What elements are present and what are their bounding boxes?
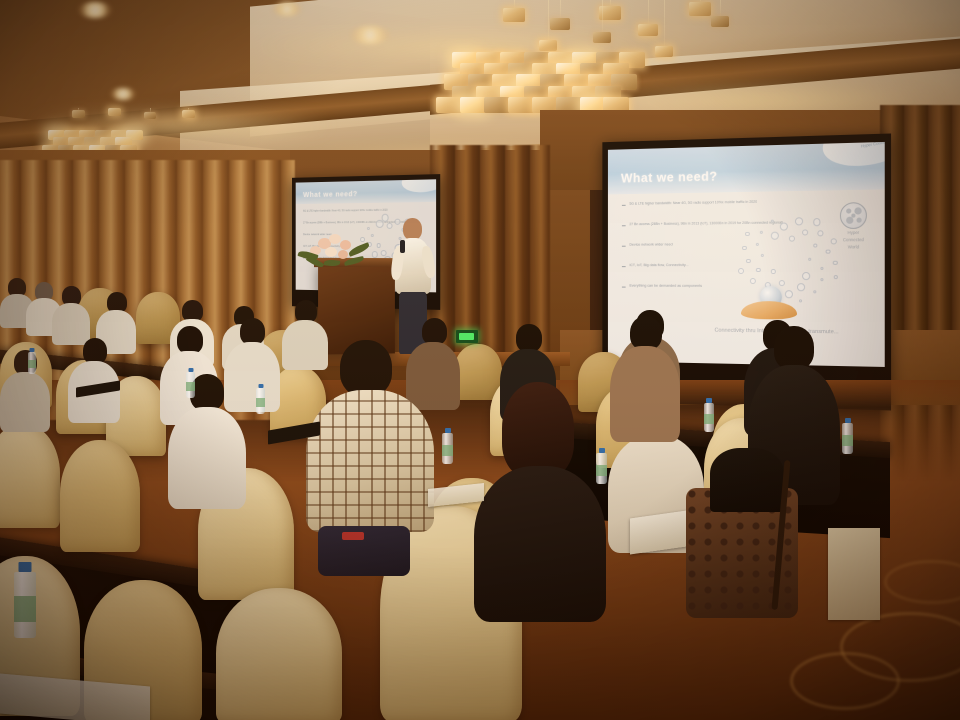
audience-member-long-hair [474, 382, 606, 616]
iot-node-icon [813, 290, 816, 293]
slide-bullet-text: Device network wider need [629, 242, 672, 246]
audience-member-checkered-shirt [306, 340, 434, 572]
chandelier-cube [689, 2, 711, 16]
slide-corner-badge: Hyper Connected [861, 142, 885, 149]
chandelier-cube [711, 16, 729, 27]
chandelier-cube [460, 97, 486, 113]
iot-node-icon [742, 246, 747, 251]
bullet-dash-icon [622, 246, 626, 247]
chandelier-cube [655, 46, 673, 57]
iot-node-icon [759, 230, 762, 233]
floral-arrangement [298, 232, 372, 270]
chandelier-wire [664, 0, 665, 46]
iot-node-icon [797, 283, 805, 291]
iot-node-icon [813, 243, 818, 248]
logo-line-3: World [831, 245, 877, 250]
iot-node-icon [795, 218, 803, 226]
iot-node-icon [802, 272, 810, 280]
iot-node-icon [802, 229, 808, 235]
iot-node-icon [771, 232, 779, 240]
audience-member [610, 316, 680, 436]
chandelier-cube [72, 110, 85, 118]
water-bottle [442, 428, 453, 464]
slide-title: What we need? [303, 191, 358, 199]
hyper-connected-world-logo: Hyper Connected World [831, 202, 877, 250]
exit-sign [456, 330, 478, 343]
patterned-shoulder-bag [686, 448, 806, 620]
water-bottle [186, 368, 195, 398]
water-bottle [28, 348, 36, 374]
iot-node-icon [821, 279, 824, 282]
downlight-1 [78, 2, 112, 18]
chair [216, 588, 342, 720]
bullet-dash-icon [622, 205, 626, 206]
iot-node-icon [826, 249, 831, 254]
logo-ring-icon [840, 202, 867, 229]
iot-node-icon [756, 242, 759, 245]
iot-node-icon [381, 250, 387, 256]
carpet-pattern-2 [790, 652, 900, 710]
water-bottle [704, 398, 714, 432]
iot-node-icon [738, 267, 744, 273]
slide-bullet-1: 5G & LTE higher bandwidth: Near 4G, 5G r… [303, 208, 428, 213]
iot-node-icon [770, 220, 773, 223]
chandelier-cube [144, 112, 156, 119]
iot-node-icon [779, 280, 785, 286]
iot-node-icon [833, 261, 838, 266]
water-bottle [256, 384, 265, 414]
audience-member [168, 374, 246, 504]
iot-node-icon [789, 235, 795, 241]
chandelier-cube [550, 18, 570, 30]
water-bottle [842, 418, 853, 454]
bullet-dash-icon [622, 287, 626, 288]
water-bottle [596, 448, 607, 484]
chandelier-cube [638, 24, 658, 36]
iot-node-icon [817, 230, 823, 236]
iot-node-icon [771, 269, 776, 274]
iot-node-icon [756, 268, 761, 273]
iot-node-icon [780, 222, 788, 230]
iot-node-icon [820, 266, 823, 269]
slide-bullet-text: 5G & LTE higher bandwidth: Near 4G, 5G r… [629, 200, 757, 206]
chandelier-cube [436, 97, 462, 113]
iot-node-icon [377, 243, 382, 248]
chandelier-cube [182, 110, 195, 118]
chandelier-wire [548, 0, 549, 40]
iot-node-icon [833, 275, 838, 280]
chandelier-wire [648, 0, 649, 24]
iot-node-icon [745, 232, 750, 237]
microphone [400, 240, 405, 253]
chandelier-wire [560, 0, 561, 18]
audience-member [52, 286, 90, 342]
iot-node-icon [809, 257, 812, 260]
paper-gift-bag [828, 528, 880, 620]
iot-node-icon [785, 290, 793, 298]
jeans [318, 526, 410, 576]
iot-node-icon [813, 219, 821, 227]
downlight-4 [350, 26, 390, 44]
slide-title: What we need? [621, 169, 718, 186]
audience-member [68, 338, 120, 420]
logo-line-2: Connected [831, 238, 877, 243]
downlight-2 [110, 88, 136, 100]
audience-member [0, 350, 50, 428]
pocket-detail [342, 532, 364, 540]
chandelier-wire [514, 0, 515, 8]
iot-node-icon [750, 278, 756, 284]
bullet-dash-icon [622, 225, 626, 226]
chair [60, 440, 140, 552]
logo-line-1: Hyper [831, 231, 877, 236]
slide-bullet-text: ICT, IoT, Big data flow, Connectivity... [629, 263, 688, 267]
iot-node-icon [761, 254, 764, 257]
iot-node-icon [367, 227, 370, 230]
downlight-3 [272, 2, 302, 16]
iot-node-icon [799, 299, 802, 302]
water-bottle [14, 562, 36, 638]
iot-node-icon [372, 251, 378, 257]
conference-room-photo: Hyper Connected What we need? 5G & LTE h… [0, 0, 960, 720]
chandelier-cube [108, 108, 121, 116]
chandelier-wire [720, 0, 721, 16]
slide-bullet-text: Everything can be demanded as components [629, 284, 702, 288]
chandelier-wire [602, 0, 603, 32]
chandelier-cube [484, 97, 510, 113]
chandelier-cube [593, 32, 611, 43]
chandelier-cube [503, 8, 525, 22]
slide-bullet-text: 5G & LTE higher bandwidth: Near 4G, 5G r… [303, 209, 388, 213]
chandelier-cube [539, 40, 557, 51]
bullet-dash-icon [622, 266, 626, 267]
chandelier-cube [508, 97, 534, 113]
presenter-head [403, 218, 422, 240]
iot-node-icon [746, 259, 751, 264]
iot-node-icon [381, 214, 389, 222]
